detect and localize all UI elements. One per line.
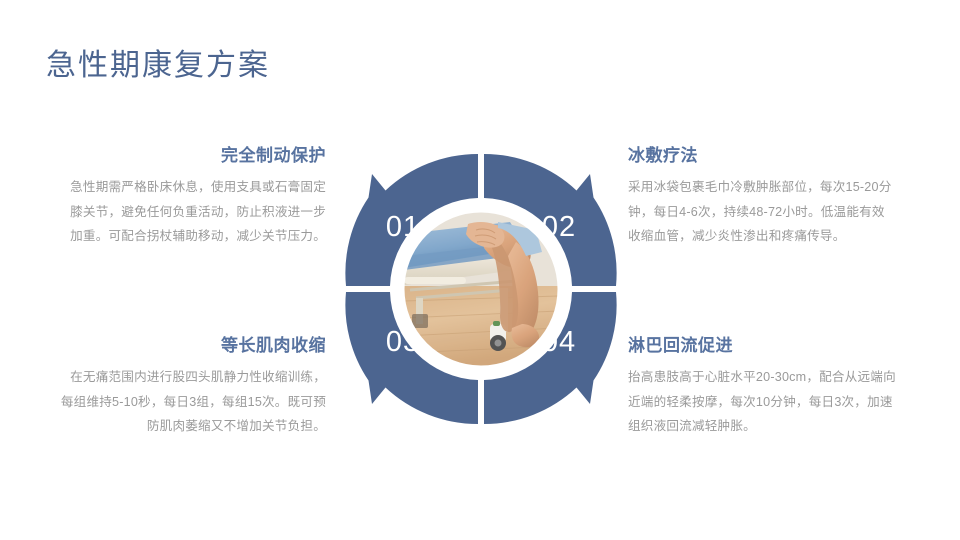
cycle-diagram: 01 02 03 04	[330, 138, 632, 440]
content-block-02: 冰敷疗法 采用冰袋包裹毛巾冷敷肿胀部位，每次15-20分钟，每日4-6次，持续4…	[628, 146, 896, 248]
content-block-04-title: 淋巴回流促进	[628, 336, 896, 356]
segment-01-number: 01	[386, 211, 420, 243]
content-block-04: 淋巴回流促进 抬高患肢高于心脏水平20-30cm，配合从远端向近端的轻柔按摩，每…	[628, 336, 896, 438]
content-block-03-body: 在无痛范围内进行股四头肌静力性收缩训练，每组维持5-10秒，每日3组，每组15次…	[58, 365, 326, 438]
slide-root: 急性期康复方案 完全制动保护 急性期需严格卧床休息，使用支具或石膏固定膝关节，避…	[0, 0, 960, 540]
content-block-02-title: 冰敷疗法	[628, 146, 896, 166]
content-block-03: 等长肌肉收缩 在无痛范围内进行股四头肌静力性收缩训练，每组维持5-10秒，每日3…	[58, 336, 326, 438]
page-title: 急性期康复方案	[46, 40, 270, 84]
content-block-01-body: 急性期需严格卧床休息，使用支具或石膏固定膝关节，避免任何负重活动，防止积液进一步…	[58, 175, 326, 248]
content-block-01: 完全制动保护 急性期需严格卧床休息，使用支具或石膏固定膝关节，避免任何负重活动，…	[58, 146, 326, 248]
content-block-03-title: 等长肌肉收缩	[58, 336, 326, 356]
center-photo	[403, 211, 559, 367]
content-block-01-title: 完全制动保护	[58, 146, 326, 166]
segment-02-number: 02	[542, 211, 576, 243]
content-block-02-body: 采用冰袋包裹毛巾冷敷肿胀部位，每次15-20分钟，每日4-6次，持续48-72小…	[628, 175, 896, 248]
content-block-04-body: 抬高患肢高于心脏水平20-30cm，配合从远端向近端的轻柔按摩，每次10分钟，每…	[628, 365, 896, 438]
